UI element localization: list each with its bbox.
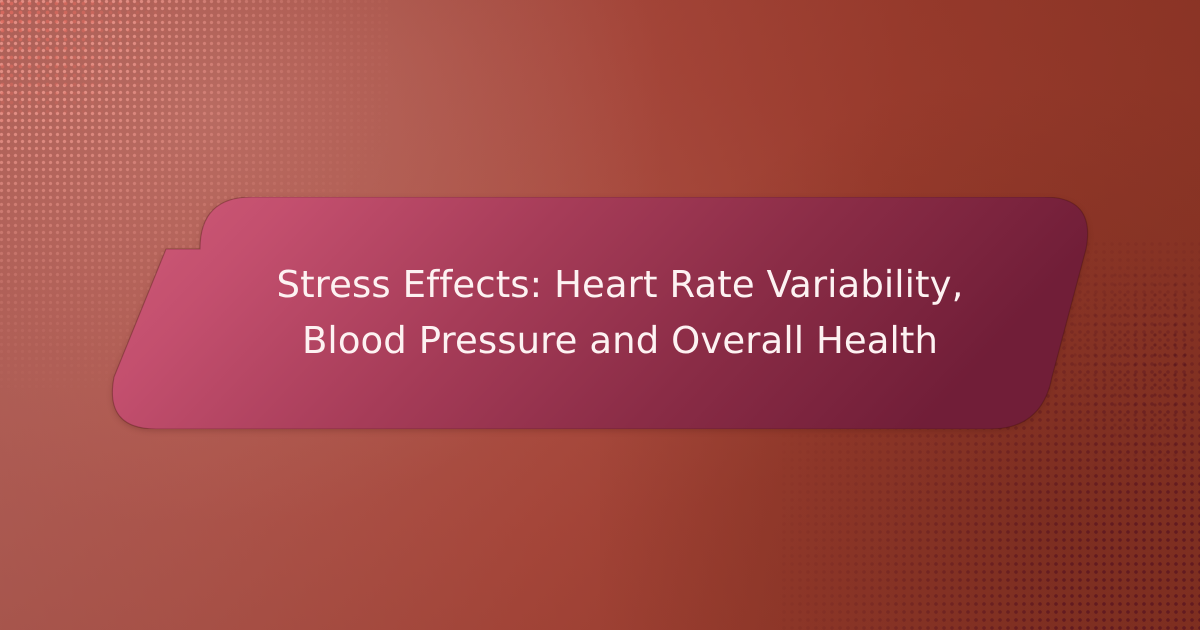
title-card: Stress Effects: Heart Rate Variability, …	[100, 197, 1100, 429]
page-title: Stress Effects: Heart Rate Variability, …	[240, 257, 1000, 369]
title-container: Stress Effects: Heart Rate Variability, …	[240, 197, 1000, 429]
share-card-canvas: Stress Effects: Heart Rate Variability, …	[0, 0, 1200, 630]
